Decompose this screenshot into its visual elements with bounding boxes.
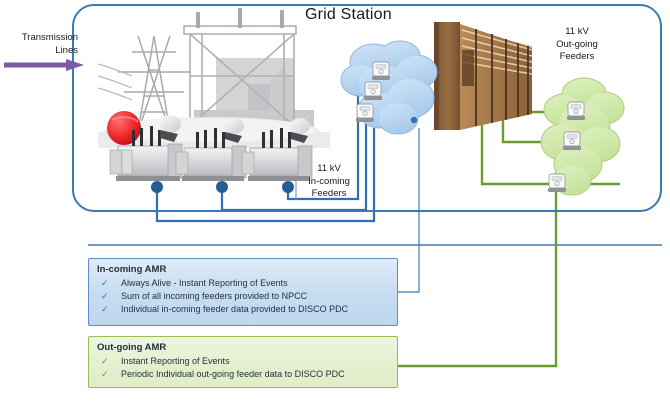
- outgoing-amr-item: ✓ Periodic Individual out-going feeder d…: [97, 368, 389, 381]
- incoming-meter-3-icon: [354, 102, 376, 124]
- outgoing-meter-3-icon: [546, 172, 568, 194]
- page-title: Grid Station: [305, 6, 392, 24]
- check-icon: ✓: [97, 303, 121, 316]
- transmission-arrow-icon: [4, 59, 84, 71]
- outgoing-feeders-line1: 11 kV: [548, 26, 606, 39]
- outgoing-amr-connector: [398, 192, 556, 366]
- transmission-lines-label: Transmission Lines: [4, 31, 78, 57]
- incoming-feeders-label: 11 kV In-coming Feeders: [300, 163, 358, 201]
- incoming-meter-2-icon: [362, 80, 384, 102]
- check-icon: ✓: [97, 290, 121, 303]
- outgoing-amr-item: ✓ Instant Reporting of Events: [97, 355, 389, 368]
- check-icon: ✓: [97, 368, 121, 381]
- transmission-lines-line2: Lines: [4, 44, 78, 57]
- incoming-amr-box: In-coming AMR ✓ Always Alive - Instant R…: [88, 258, 398, 326]
- outgoing-feeders-line2: Out-going: [548, 39, 606, 52]
- check-icon: ✓: [97, 355, 121, 368]
- incoming-meter-1-icon: [370, 60, 392, 82]
- incoming-feeders-line2: In-coming: [300, 176, 358, 189]
- check-icon: ✓: [97, 277, 121, 290]
- outgoing-amr-item-text: Periodic Individual out-going feeder dat…: [121, 368, 389, 381]
- switchgear-panels-icon: [432, 6, 540, 132]
- feeder-tap-nodes: [145, 175, 305, 199]
- incoming-amr-item-text: Sum of all incoming feeders provided to …: [121, 290, 389, 303]
- incoming-amr-item: ✓ Sum of all incoming feeders provided t…: [97, 290, 389, 303]
- diagram-canvas: Transmission Lines Grid Station 11 kV In…: [0, 0, 670, 406]
- incoming-feeders-line3: Feeders: [300, 188, 358, 201]
- incoming-amr-item: ✓ Always Alive - Instant Reporting of Ev…: [97, 277, 389, 290]
- incoming-amr-title: In-coming AMR: [97, 264, 389, 275]
- outgoing-amr-box: Out-going AMR ✓ Instant Reporting of Eve…: [88, 336, 398, 388]
- incoming-amr-item-text: Individual in-coming feeder data provide…: [121, 303, 389, 316]
- outgoing-feeders-line3: Feeders: [548, 51, 606, 64]
- outgoing-meter-1-icon: [565, 100, 587, 122]
- outgoing-amr-item-text: Instant Reporting of Events: [121, 355, 389, 368]
- incoming-feeders-line1: 11 kV: [300, 163, 358, 176]
- outgoing-meter-2-icon: [561, 130, 583, 152]
- outgoing-feeders-label: 11 kV Out-going Feeders: [548, 26, 606, 64]
- outgoing-amr-title: Out-going AMR: [97, 342, 389, 353]
- incoming-amr-item-text: Always Alive - Instant Reporting of Even…: [121, 277, 389, 290]
- incoming-amr-item: ✓ Individual in-coming feeder data provi…: [97, 303, 389, 316]
- incoming-feeder-cloud-icon: [340, 36, 444, 144]
- transmission-lines-line1: Transmission: [4, 31, 78, 44]
